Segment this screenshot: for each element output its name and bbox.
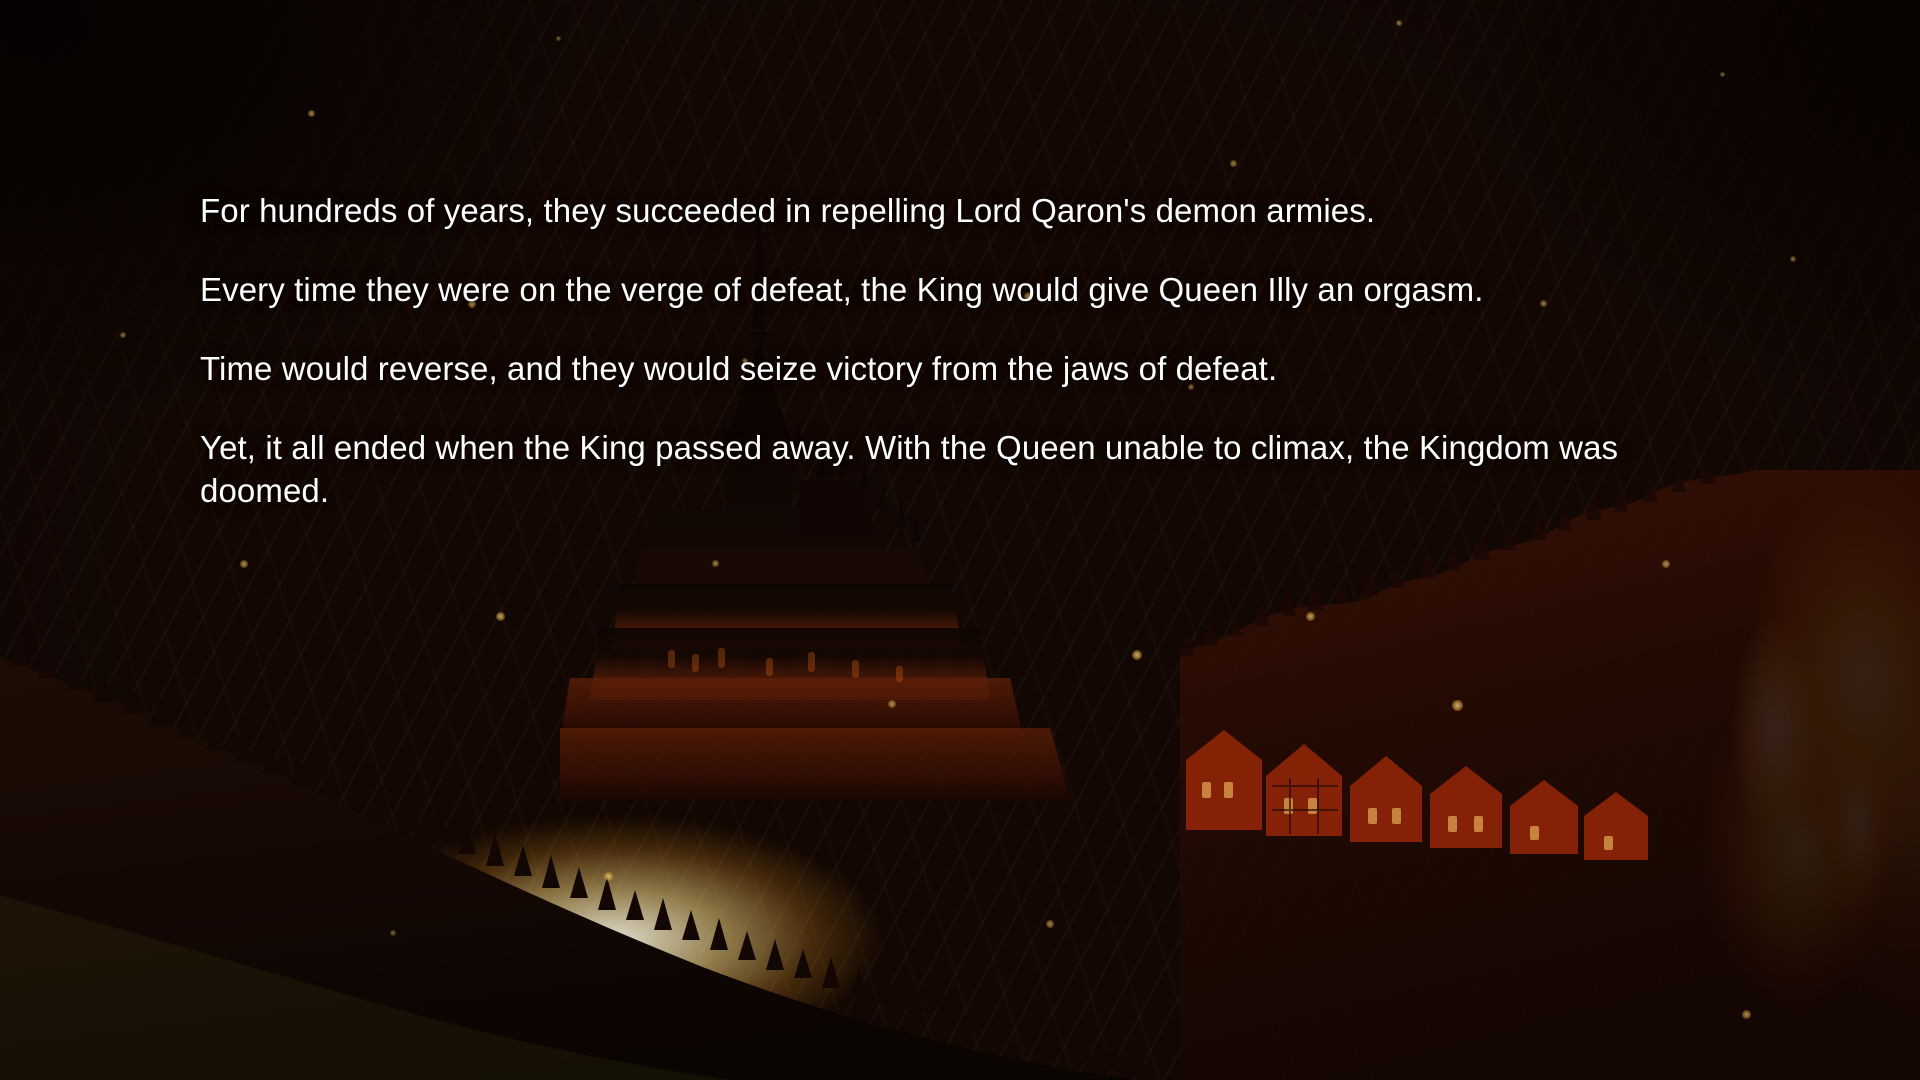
story-scene: For hundreds of years, they succeeded in… <box>0 0 1920 1080</box>
caption-paragraph-4: Yet, it all ended when the King passed a… <box>200 427 1680 513</box>
caption-block: For hundreds of years, they succeeded in… <box>200 190 1700 512</box>
caption-paragraph-3: Time would reverse, and they would seize… <box>200 348 1670 391</box>
caption-paragraph-2: Every time they were on the verge of def… <box>200 269 1620 312</box>
burning-village-silhouette <box>1180 690 1740 870</box>
caption-paragraph-1: For hundreds of years, they succeeded in… <box>200 190 1670 233</box>
pine-forest-silhouette <box>0 560 1200 1080</box>
